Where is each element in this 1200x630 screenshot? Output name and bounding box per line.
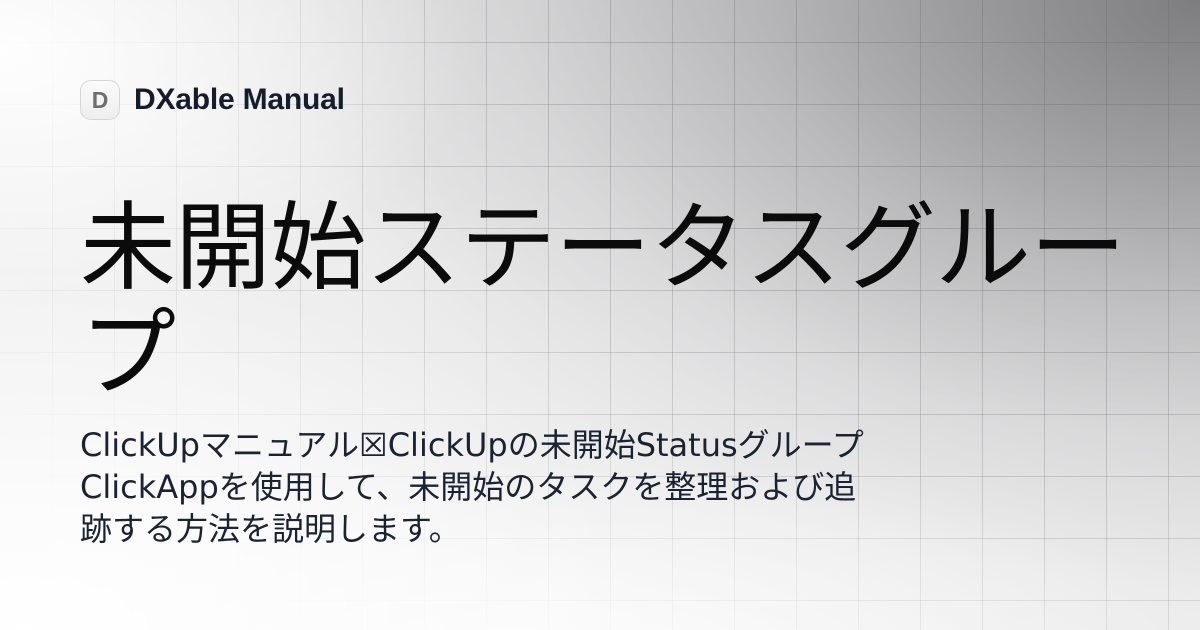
page-description: ClickUpマニュアル☒ClickUpの未開始Statusグループ Click… <box>80 424 880 550</box>
page-title: 未開始ステータスグループ <box>80 196 1140 407</box>
card-content: D DXable Manual 未開始ステータスグループ ClickUpマニュア… <box>0 0 1200 630</box>
brand-name: DXable Manual <box>134 85 345 115</box>
brand-badge-icon: D <box>80 80 120 120</box>
brand-lockup: D DXable Manual <box>80 78 1120 122</box>
og-card: D DXable Manual 未開始ステータスグループ ClickUpマニュア… <box>0 0 1200 630</box>
